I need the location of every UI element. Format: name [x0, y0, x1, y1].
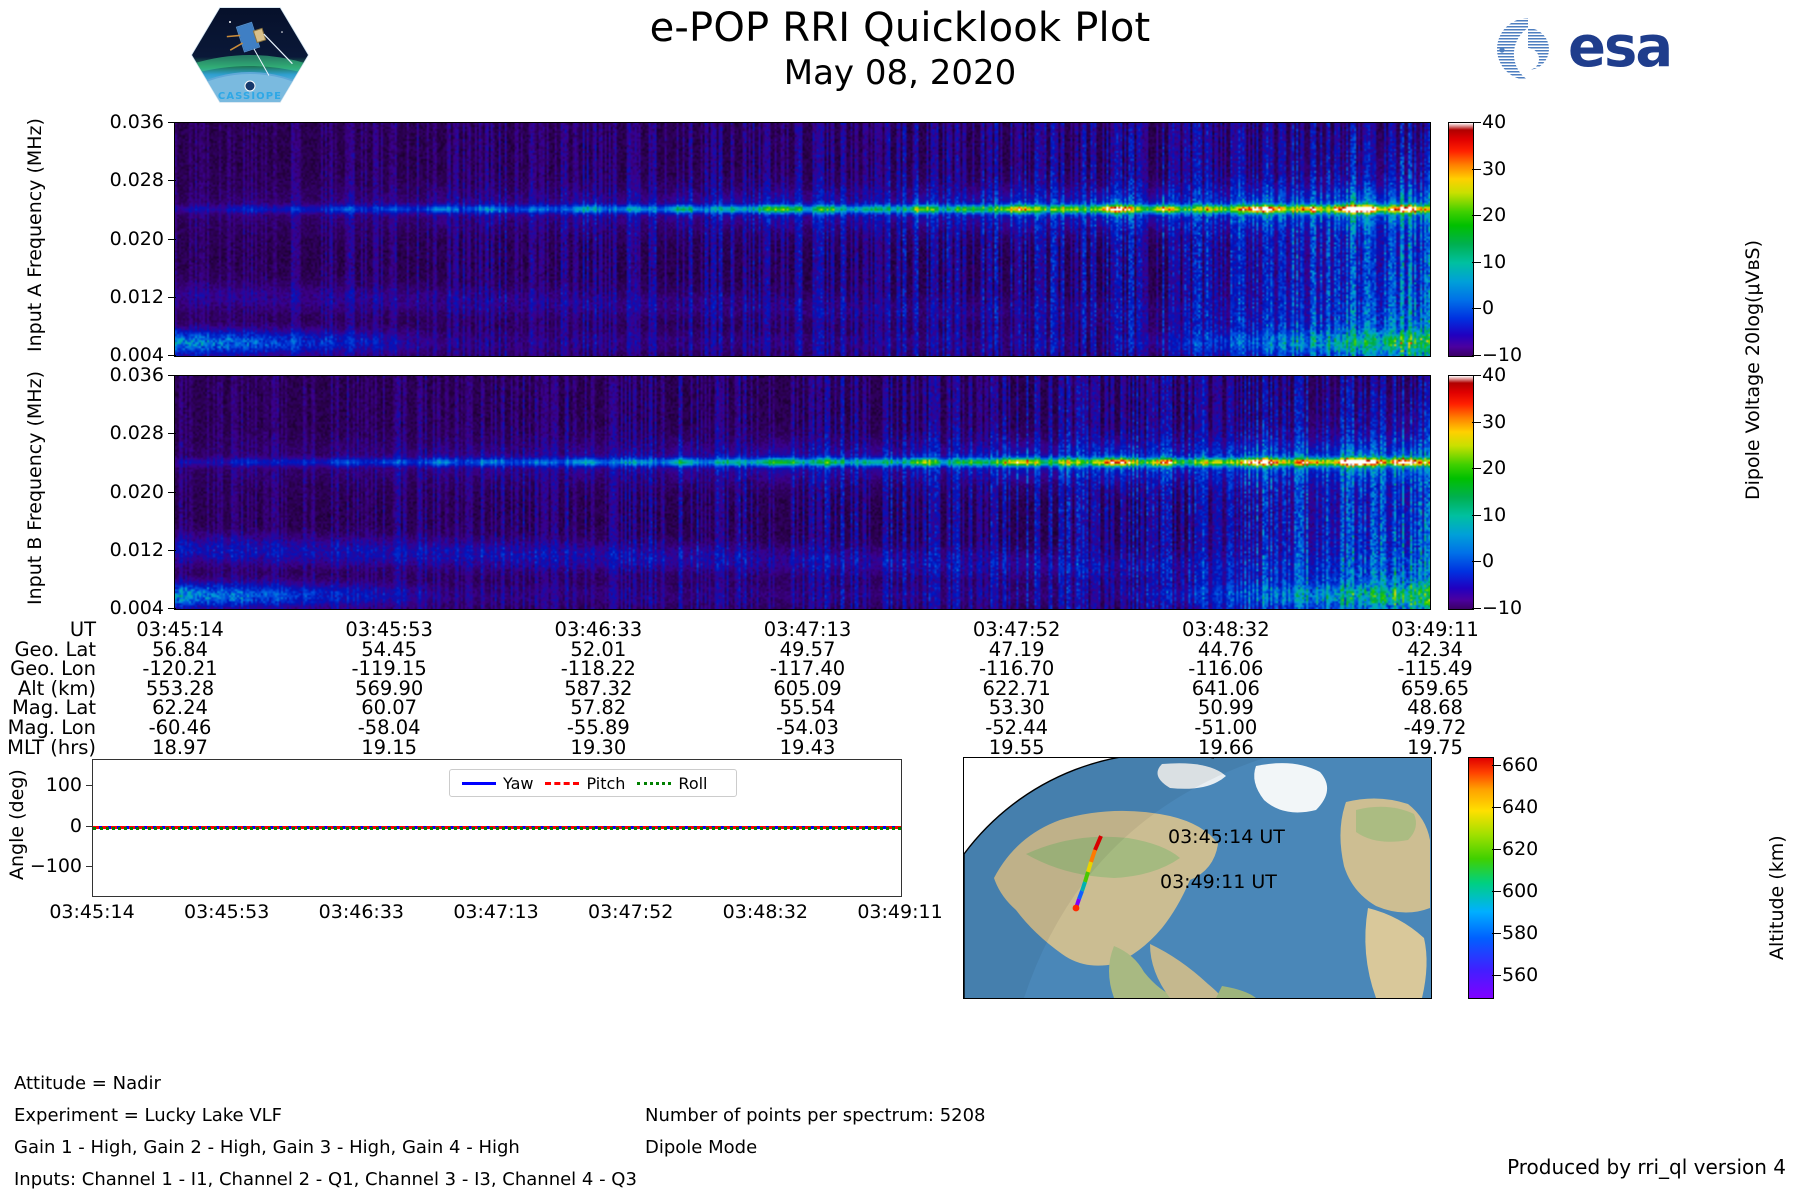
spectrogram-input-a-canvas — [175, 123, 1430, 356]
spectrogram-ytick-label: 0.004 — [72, 344, 164, 366]
spectrogram-a-ylabel: Input A Frequency (MHz) — [24, 118, 46, 352]
altitude-tick-mark — [1492, 891, 1501, 892]
spectrogram-ytick-label: 0.036 — [72, 111, 164, 133]
altitude-tick-mark — [1492, 765, 1501, 766]
voltage-colorbar-tick-label: −10 — [1482, 597, 1522, 619]
attitude-ytick-label: 0 — [16, 815, 82, 837]
altitude-tick-label: 580 — [1502, 922, 1538, 944]
roll-line-swatch — [637, 782, 671, 785]
attitude-ytick-label: 100 — [16, 774, 82, 796]
ephemeris-cell: -51.00 — [1156, 718, 1296, 738]
ephemeris-cell: 03:45:14 — [110, 620, 250, 640]
spectrogram-ytick-label: 0.036 — [72, 364, 164, 386]
altitude-tick-mark — [1492, 849, 1501, 850]
spectrogram-ytick-mark — [168, 608, 176, 609]
ground-track-map: 03:45:14 UT 03:49:11 UT — [963, 757, 1432, 999]
ephemeris-row: UT03:45:1403:45:5303:46:3303:47:1303:47:… — [0, 620, 1478, 640]
voltage-colorbar-tick-label: 0 — [1482, 297, 1494, 319]
legend-label-pitch: Pitch — [586, 774, 625, 793]
ephemeris-cell: -118.22 — [528, 659, 668, 679]
attitude-plot: Yaw Pitch Roll — [92, 759, 902, 897]
ephemeris-cell: 19.75 — [1365, 738, 1505, 758]
voltage-colorbar-tick-mark — [1472, 122, 1481, 123]
voltage-colorbar-tick-label: 0 — [1482, 550, 1494, 572]
yaw-line-swatch — [462, 782, 496, 785]
voltage-colorbar-b — [1448, 375, 1474, 610]
voltage-colorbar-tick-label: 40 — [1482, 364, 1506, 386]
voltage-colorbar-a-gradient — [1449, 123, 1473, 356]
attitude-ytick-mark — [86, 866, 93, 867]
spectrogram-input-b-canvas — [175, 376, 1430, 609]
ephemeris-cell: 03:48:32 — [1156, 620, 1296, 640]
spectrogram-ytick-mark — [168, 180, 176, 181]
voltage-colorbar-tick-label: 40 — [1482, 111, 1506, 133]
footer-gains: Gain 1 - High, Gain 2 - High, Gain 3 - H… — [14, 1137, 520, 1158]
voltage-colorbar-tick-mark — [1472, 515, 1481, 516]
altitude-tick-label: 660 — [1502, 754, 1538, 776]
spectrogram-ytick-mark — [168, 355, 176, 356]
ephemeris-cell: 19.66 — [1156, 738, 1296, 758]
ephemeris-cell: 19.55 — [947, 738, 1087, 758]
spectrogram-b-ylabel: Input B Frequency (MHz) — [24, 371, 46, 605]
ephemeris-cell: -55.89 — [528, 718, 668, 738]
voltage-colorbar-tick-label: 30 — [1482, 158, 1506, 180]
ephemeris-cell: -49.72 — [1365, 718, 1505, 738]
voltage-colorbar-tick-mark — [1472, 355, 1481, 356]
attitude-xtick-label: 03:47:13 — [431, 901, 561, 923]
attitude-ytick-label: −100 — [16, 855, 82, 877]
altitude-tick-mark — [1492, 807, 1501, 808]
spectrogram-input-b — [174, 375, 1431, 610]
spectrogram-ytick-mark — [168, 550, 176, 551]
ephemeris-cell: 18.97 — [110, 738, 250, 758]
attitude-xtick-label: 03:49:11 — [835, 901, 965, 923]
ephemeris-row: MLT (hrs)18.9719.1519.3019.4319.5519.661… — [0, 738, 1478, 758]
altitude-colorbar — [1468, 757, 1494, 999]
ephemeris-row-label: UT — [0, 620, 102, 640]
voltage-colorbar-tick-mark — [1472, 308, 1481, 309]
altitude-tick-label: 640 — [1502, 796, 1538, 818]
footer-mode: Dipole Mode — [645, 1137, 757, 1158]
spectrogram-ytick-mark — [168, 375, 176, 376]
voltage-colorbar-tick-label: 10 — [1482, 504, 1506, 526]
legend-item-pitch: Pitch — [545, 774, 625, 793]
spectrogram-input-a — [174, 122, 1431, 357]
ephemeris-row: Geo. Lon-120.21-119.15-118.22-117.40-116… — [0, 659, 1478, 679]
ephemeris-row-values: -120.21-119.15-118.22-117.40-116.70-116.… — [102, 659, 1478, 679]
attitude-xtick-label: 03:46:33 — [296, 901, 426, 923]
ephemeris-row: Alt (km)553.28569.90587.32605.09622.7164… — [0, 679, 1478, 699]
attitude-ytick-mark — [86, 785, 93, 786]
voltage-colorbar-tick-label: 20 — [1482, 457, 1506, 479]
voltage-colorbar-tick-mark — [1472, 262, 1481, 263]
spectrogram-ytick-label: 0.028 — [72, 169, 164, 191]
ephemeris-cell: 19.15 — [319, 738, 459, 758]
ephemeris-cell: 03:47:52 — [947, 620, 1087, 640]
esa-wordmark: esa — [1568, 18, 1671, 78]
spectrogram-ytick-label: 0.020 — [72, 481, 164, 503]
ephemeris-cell: 03:46:33 — [528, 620, 668, 640]
ephemeris-row-label: Mag. Lon — [0, 718, 102, 738]
spectrogram-ytick-mark — [168, 297, 176, 298]
ephemeris-cell: -120.21 — [110, 659, 250, 679]
ephemeris-cell: 03:45:53 — [319, 620, 459, 640]
ephemeris-row-label: Geo. Lon — [0, 659, 102, 679]
ephemeris-cell: -117.40 — [738, 659, 878, 679]
attitude-xtick-label: 03:45:53 — [162, 901, 292, 923]
ephemeris-row: Mag. Lon-60.46-58.04-55.89-54.03-52.44-5… — [0, 718, 1478, 738]
spectrogram-ytick-label: 0.020 — [72, 228, 164, 250]
spectrogram-ytick-mark — [168, 122, 176, 123]
attitude-zero-traces — [93, 826, 901, 830]
ephemeris-row-values: 03:45:1403:45:5303:46:3303:47:1303:47:52… — [102, 620, 1478, 640]
spectrogram-ytick-label: 0.004 — [72, 597, 164, 619]
ephemeris-cell: 03:47:13 — [738, 620, 878, 640]
legend-label-yaw: Yaw — [503, 774, 533, 793]
attitude-xtick-label: 03:48:32 — [700, 901, 830, 923]
ephemeris-cell: 03:49:11 — [1365, 620, 1505, 640]
ephemeris-cell: 19.30 — [528, 738, 668, 758]
ephemeris-table: UT03:45:1403:45:5303:46:3303:47:1303:47:… — [0, 620, 1478, 757]
ephemeris-cell: -116.06 — [1156, 659, 1296, 679]
map-start-time-label: 03:45:14 UT — [1168, 826, 1285, 848]
legend-item-roll: Roll — [637, 774, 707, 793]
footer-points-per-spectrum: Number of points per spectrum: 5208 — [645, 1105, 986, 1126]
spectrogram-ytick-label: 0.028 — [72, 422, 164, 444]
attitude-xtick-label: 03:45:14 — [27, 901, 157, 923]
ephemeris-row-values: 18.9719.1519.3019.4319.5519.6619.75 — [102, 738, 1478, 758]
spectrogram-ytick-mark — [168, 433, 176, 434]
attitude-xtick-label: 03:47:52 — [566, 901, 696, 923]
voltage-colorbar-a — [1448, 122, 1474, 357]
ephemeris-row-label: MLT (hrs) — [0, 738, 102, 758]
ephemeris-row-values: -60.46-58.04-55.89-54.03-52.44-51.00-49.… — [102, 718, 1478, 738]
ephemeris-cell: -52.44 — [947, 718, 1087, 738]
spectrogram-ytick-mark — [168, 239, 176, 240]
altitude-tick-mark — [1492, 933, 1501, 934]
ephemeris-cell: -58.04 — [319, 718, 459, 738]
map-end-time-label: 03:49:11 UT — [1160, 871, 1277, 893]
ephemeris-cell: -116.70 — [947, 659, 1087, 679]
voltage-colorbar-tick-mark — [1472, 375, 1481, 376]
attitude-ytick-mark — [86, 826, 93, 827]
altitude-tick-mark — [1492, 975, 1501, 976]
spectrogram-ytick-mark — [168, 492, 176, 493]
attitude-legend: Yaw Pitch Roll — [449, 769, 737, 797]
footer-experiment: Experiment = Lucky Lake VLF — [14, 1105, 282, 1126]
roll-trace — [93, 827, 901, 830]
legend-label-roll: Roll — [678, 774, 707, 793]
ephemeris-cell: -115.49 — [1365, 659, 1505, 679]
altitude-tick-label: 600 — [1502, 880, 1538, 902]
footer-attitude: Attitude = Nadir — [14, 1073, 161, 1094]
ephemeris-cell: -54.03 — [738, 718, 878, 738]
voltage-colorbar-tick-mark — [1472, 422, 1481, 423]
altitude-tick-label: 560 — [1502, 964, 1538, 986]
voltage-colorbar-tick-mark — [1472, 608, 1481, 609]
ephemeris-cell: 19.43 — [738, 738, 878, 758]
ephemeris-cell: -60.46 — [110, 718, 250, 738]
voltage-colorbar-label: Dipole Voltage 20log(μVʙS) — [1742, 240, 1764, 500]
voltage-colorbar-tick-mark — [1472, 561, 1481, 562]
voltage-colorbar-tick-mark — [1472, 215, 1481, 216]
altitude-colorbar-gradient — [1469, 758, 1493, 998]
footer-inputs: Inputs: Channel 1 - I1, Channel 2 - Q1, … — [14, 1169, 637, 1190]
voltage-colorbar-b-gradient — [1449, 376, 1473, 609]
altitude-tick-label: 620 — [1502, 838, 1538, 860]
voltage-colorbar-tick-label: 20 — [1482, 204, 1506, 226]
ephemeris-cell: -119.15 — [319, 659, 459, 679]
altitude-colorbar-label: Altitude (km) — [1766, 835, 1788, 960]
legend-item-yaw: Yaw — [462, 774, 533, 793]
voltage-colorbar-tick-label: 10 — [1482, 251, 1506, 273]
footer-produced-by: Produced by rri_ql version 4 — [1507, 1155, 1786, 1179]
voltage-colorbar-tick-label: 30 — [1482, 411, 1506, 433]
voltage-colorbar-tick-label: −10 — [1482, 344, 1522, 366]
voltage-colorbar-tick-mark — [1472, 169, 1481, 170]
esa-logo: esa — [1480, 14, 1710, 84]
voltage-colorbar-tick-mark — [1472, 468, 1481, 469]
spectrogram-ytick-label: 0.012 — [72, 286, 164, 308]
spectrogram-ytick-label: 0.012 — [72, 539, 164, 561]
pitch-line-swatch — [545, 782, 579, 785]
